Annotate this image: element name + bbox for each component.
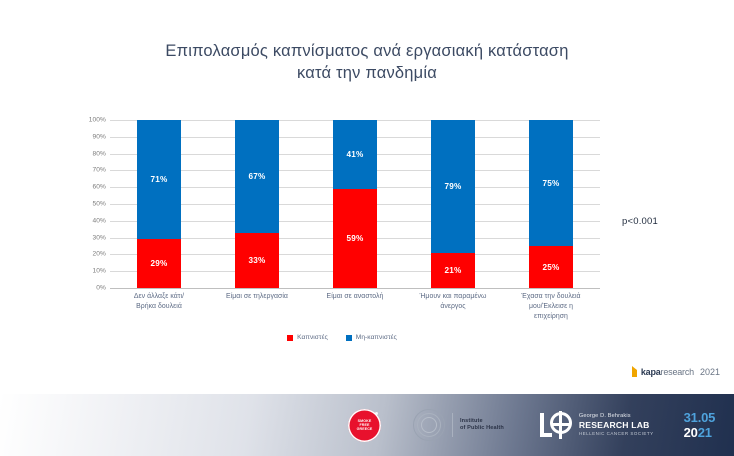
bar-value-label: 21% [445,266,462,275]
divider [452,413,453,437]
behrakis-label: George D. Behrakis RESEARCH LAB HELLENIC… [579,413,654,437]
y-axis-tick-label: 60% [62,184,106,191]
bar-segment-non-smokers[interactable]: 41% [333,120,377,189]
y-axis-tick-label: 90% [62,133,106,140]
smoke-free-greece-text: SMOKE FREE GREECE [357,419,373,432]
bar-group[interactable]: 33%67% [235,120,279,288]
institute-seal-icon [413,409,445,441]
bar-segment-smokers[interactable]: 59% [333,189,377,288]
chart-legend: ΚαπνιστέςΜη-καπνιστές [62,334,622,341]
slide-footer: SMOKE FREE GREECE Institute of Public He… [0,394,734,456]
presentation-slide: Επιπολασμός καπνίσματος ανά εργασιακή κα… [0,0,734,456]
behrakis-l-foot [540,433,552,437]
legend-swatch-icon [346,335,352,341]
kapa-year: 2021 [700,367,720,377]
title-line-1: Επιπολασμός καπνίσματος ανά εργασιακή κα… [80,40,654,62]
x-axis-category-label: Έχασα την δουλειάμου/Έκλεισε ηεπιχείρηση [502,292,600,322]
bar-segment-non-smokers[interactable]: 79% [431,120,475,253]
bar-group[interactable]: 29%71% [137,120,181,288]
bar-value-label: 29% [151,259,168,268]
institute-of-public-health-logo: Institute of Public Health [413,409,504,441]
bar-group[interactable]: 59%41% [333,120,377,288]
y-axis-tick-label: 40% [62,217,106,224]
y-axis-tick-label: 20% [62,251,106,258]
bar-group[interactable]: 25%75% [529,120,573,288]
x-axis-category-label: Ήμουν και παραμένωάνεργος [404,292,502,312]
bar-group[interactable]: 21%79% [431,120,475,288]
kapa-research-credit: kaparesearch 2021 [632,366,720,377]
smoke-free-greece-logo-icon: SMOKE FREE GREECE [348,409,381,442]
y-axis-tick-label: 0% [62,285,106,292]
x-axis-category-label: Δεν άλλαξε κάτι/Βρήκα δουλειά [110,292,208,312]
y-axis-tick-label: 30% [62,234,106,241]
kapa-flag-icon [632,366,637,377]
stacked-bar-chart: 100%90%80%70%60%50%40%30%20%10%0% 29%71%… [62,112,622,352]
legend-label: Καπνιστές [297,334,328,341]
y-axis-tick-label: 10% [62,268,106,275]
legend-item[interactable]: Καπνιστές [287,334,328,341]
kapa-brand-name: kaparesearch [641,367,694,377]
bar-segment-non-smokers[interactable]: 71% [137,120,181,239]
plot-area: 29%71%33%67%59%41%21%79%25%75% [110,120,600,288]
x-axis-category-label: Είμαι σε αναστολή [306,292,404,302]
page-title: Επιπολασμός καπνίσματος ανά εργασιακή κα… [80,40,654,84]
bar-segment-smokers[interactable]: 21% [431,253,475,288]
behrakis-research-lab-logo: George D. Behrakis RESEARCH LAB HELLENIC… [540,411,654,439]
bar-segment-non-smokers[interactable]: 67% [235,120,279,233]
behrakis-line-3: HELLENIC CANCER SOCIETY [579,430,654,437]
slide-date: 31.05 2021 [684,410,716,440]
y-axis-tick-label: 80% [62,150,106,157]
p-value-annotation: p<0.001 [622,216,658,227]
y-axis: 100%90%80%70%60%50%40%30%20%10%0% [62,120,106,288]
bar-segment-smokers[interactable]: 29% [137,239,181,288]
bar-value-label: 71% [151,175,168,184]
institute-line-2: of Public Health [460,425,504,431]
y-axis-tick-label: 100% [62,117,106,124]
bar-segment-smokers[interactable]: 33% [235,233,279,288]
behrakis-mark-icon [540,411,574,439]
bar-value-label: 67% [249,172,266,181]
title-line-2: κατά την πανδημία [80,62,654,84]
legend-item[interactable]: Μη-καπνιστές [346,334,397,341]
institute-label: Institute of Public Health [460,418,504,433]
y-axis-tick-label: 70% [62,167,106,174]
bar-value-label: 25% [543,263,560,272]
kapa-brand-bold: kapa [641,367,661,377]
y-axis-tick-label: 50% [62,201,106,208]
behrakis-horizontal-bar [553,423,569,426]
legend-swatch-icon [287,335,293,341]
smoke-free-greece-dot-icon [375,412,378,415]
bar-value-label: 59% [347,234,364,243]
kapa-brand-light: research [661,367,694,377]
legend-label: Μη-καπνιστές [356,334,397,341]
date-year: 2021 [684,425,716,440]
behrakis-line-1: George D. Behrakis [579,413,654,420]
bar-value-label: 79% [445,182,462,191]
behrakis-line-2: RESEARCH LAB [579,420,654,430]
footer-logos: SMOKE FREE GREECE Institute of Public He… [348,394,715,456]
bar-segment-smokers[interactable]: 25% [529,246,573,288]
gridline [110,288,600,289]
bar-value-label: 33% [249,256,266,265]
bar-segment-non-smokers[interactable]: 75% [529,120,573,246]
x-axis-category-label: Είμαι σε τηλεργασία [208,292,306,302]
bar-value-label: 75% [543,179,560,188]
bar-value-label: 41% [347,150,364,159]
institute-line-1: Institute [460,418,483,424]
date-day: 31.05 [684,410,716,425]
